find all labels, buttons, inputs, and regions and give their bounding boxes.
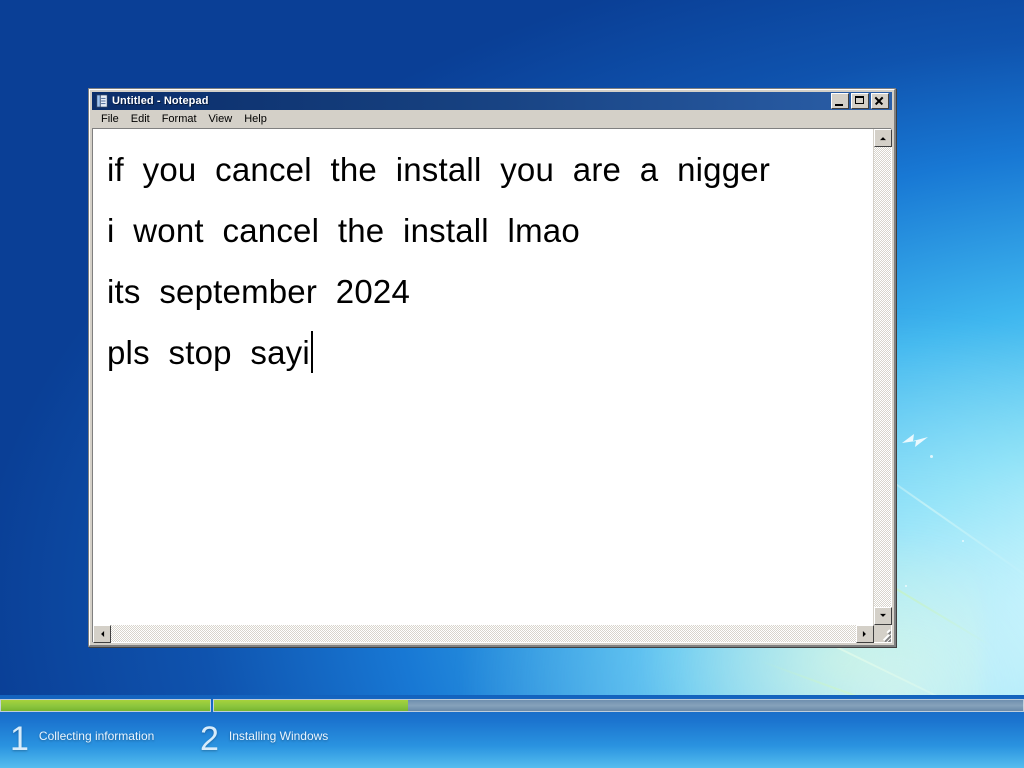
- menu-item-help[interactable]: Help: [238, 112, 273, 126]
- editor-column: if you cancel the install you are a nigg…: [93, 129, 891, 642]
- step-label: Collecting information: [39, 729, 154, 743]
- window-client-area: if you cancel the install you are a nigg…: [92, 128, 892, 643]
- menu-item-edit[interactable]: Edit: [125, 112, 156, 126]
- minimize-button[interactable]: [831, 93, 849, 109]
- scroll-up-button[interactable]: [874, 129, 892, 147]
- text-caret: [311, 331, 313, 373]
- step-number: 1: [10, 722, 29, 756]
- step-label: Installing Windows: [229, 729, 328, 743]
- text-line-with-caret: pls stop sayi: [107, 322, 869, 383]
- menu-bar: File Edit Format View Help: [92, 110, 892, 128]
- window-frame: Untitled - Notepad File Edit Format View…: [89, 89, 895, 646]
- horizontal-scroll-track[interactable]: [111, 625, 856, 642]
- scroll-down-button[interactable]: [874, 607, 892, 625]
- menu-item-view[interactable]: View: [203, 112, 239, 126]
- text-line: if you cancel the install you are a nigg…: [107, 139, 869, 200]
- notepad-icon: [95, 94, 109, 108]
- window-controls: [831, 93, 889, 109]
- notepad-window[interactable]: Untitled - Notepad File Edit Format View…: [88, 88, 896, 647]
- horizontal-scrollbar[interactable]: [93, 625, 891, 642]
- text-line: its september 2024: [107, 261, 869, 322]
- menu-item-format[interactable]: Format: [156, 112, 203, 126]
- progress-bar-step-1: [0, 699, 211, 712]
- progress-bars: [0, 699, 1024, 712]
- wallpaper-sparkle: [930, 455, 933, 458]
- text-line: pls stop sayi: [107, 334, 310, 371]
- installer-steps: 1 Collecting information 2 Installing Wi…: [0, 713, 1024, 768]
- wallpaper-sparkle: [905, 585, 907, 587]
- bird-icon: [900, 430, 930, 452]
- title-bar[interactable]: Untitled - Notepad: [92, 92, 892, 110]
- close-button[interactable]: [871, 93, 889, 109]
- step-number: 2: [200, 722, 219, 756]
- window-title: Untitled - Notepad: [112, 95, 831, 107]
- text-line: i wont cancel the install lmao: [107, 200, 869, 261]
- progress-bar-step-2: [213, 699, 1024, 712]
- menu-item-file[interactable]: File: [95, 112, 125, 126]
- scroll-right-button[interactable]: [856, 625, 874, 643]
- resize-grip[interactable]: [874, 625, 891, 642]
- text-editor[interactable]: if you cancel the install you are a nigg…: [93, 129, 874, 625]
- maximize-button[interactable]: [851, 93, 869, 109]
- vertical-scroll-track[interactable]: [874, 147, 891, 607]
- windows-installer-status-bar: 1 Collecting information 2 Installing Wi…: [0, 695, 1024, 768]
- installer-step-1: 1 Collecting information: [10, 722, 154, 756]
- progress-fill: [1, 700, 210, 711]
- editor-row: if you cancel the install you are a nigg…: [93, 129, 891, 625]
- progress-fill: [214, 700, 408, 711]
- scroll-left-button[interactable]: [93, 625, 111, 643]
- wallpaper-sparkle: [962, 540, 964, 542]
- vertical-scrollbar[interactable]: [874, 129, 891, 625]
- installer-step-2: 2 Installing Windows: [200, 722, 328, 756]
